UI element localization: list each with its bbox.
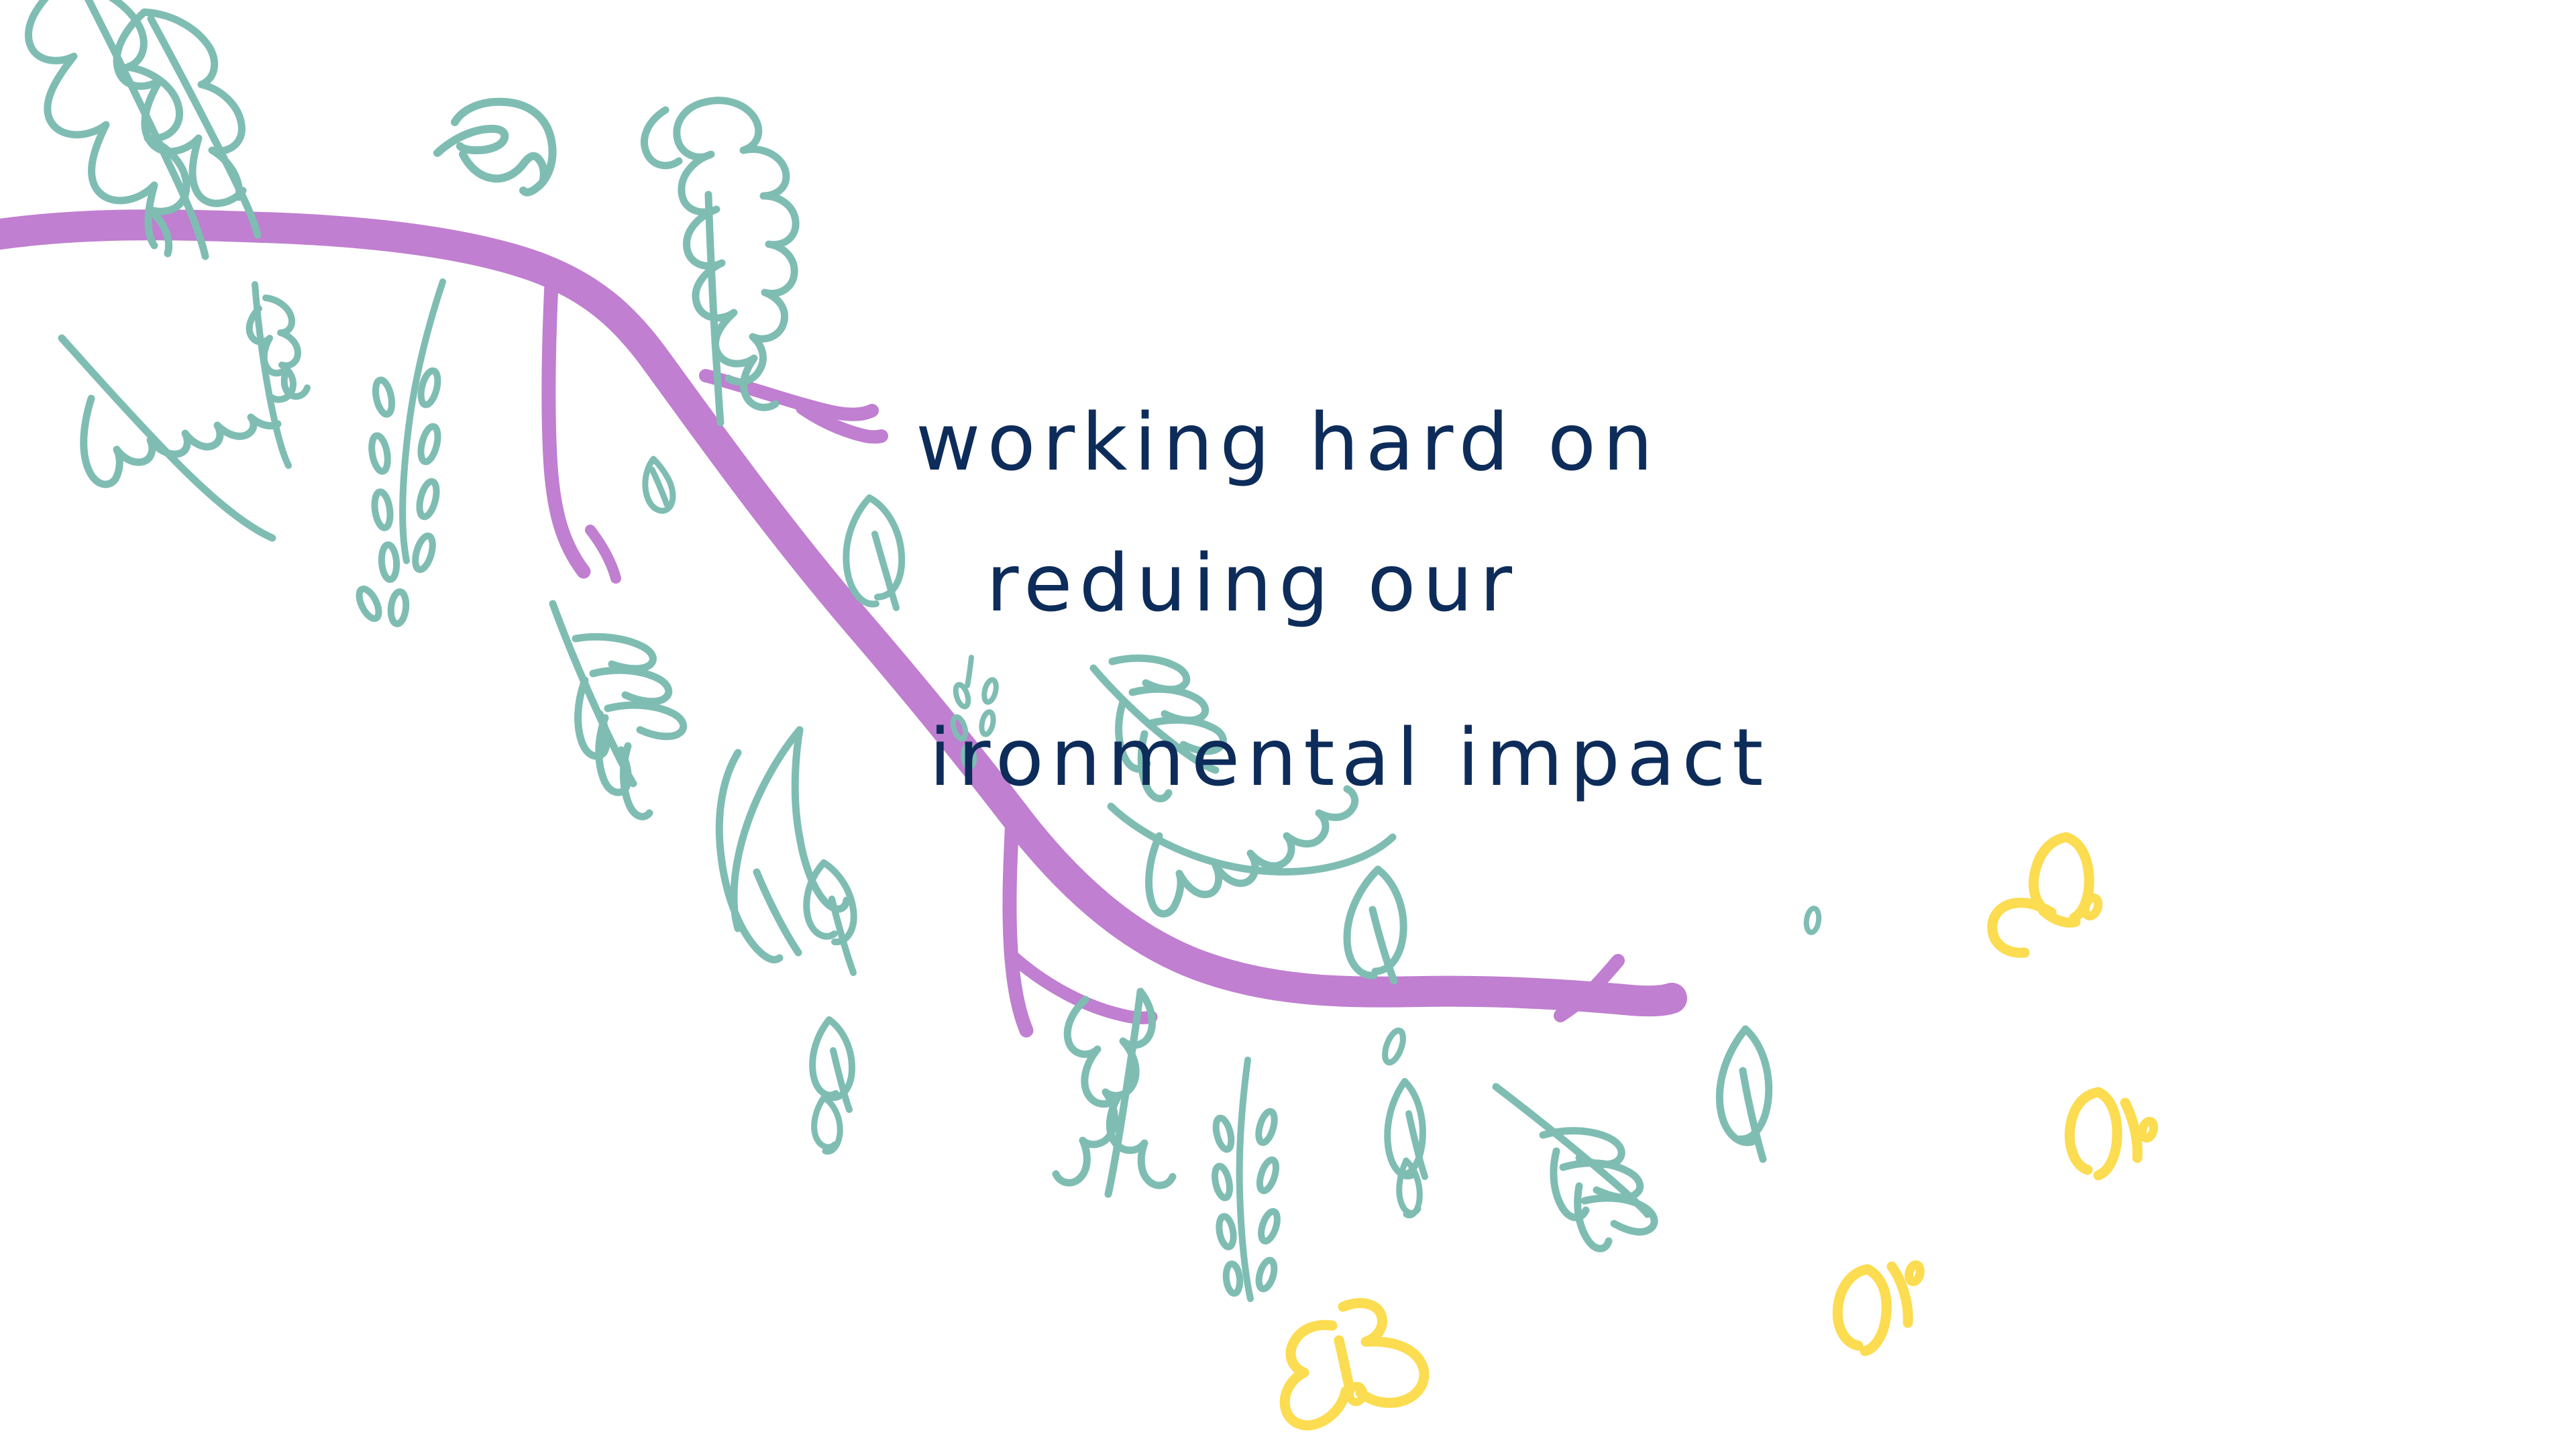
pinnate-leaf-bottom-right <box>1496 1087 1654 1248</box>
pointed-leaf-center-left <box>719 730 847 960</box>
tiny-seed-far-right <box>1805 908 1821 933</box>
butterfly-bottom-center <box>1285 1303 1424 1426</box>
butterfly-top-right <box>1992 837 2100 953</box>
branch-fork-upper-left <box>549 284 584 572</box>
small-leaf-bottom-left <box>812 1020 852 1110</box>
headline-line-2: reduing our <box>986 537 1519 629</box>
oak-leaf-top-center <box>677 101 796 423</box>
branch-fork-upper-left-tip <box>590 530 616 578</box>
curled-leaf-top <box>437 102 553 193</box>
butterfly-bottom-right <box>1837 1263 1922 1351</box>
serrated-leaf-mid-left <box>62 338 278 538</box>
small-pointed-leaf-elbow <box>645 459 673 511</box>
oak-leaf-bottom-center <box>1056 991 1173 1194</box>
pinnate-leaf-mid-left <box>553 604 684 816</box>
leaf-right-of-branch-end <box>1719 1029 1768 1159</box>
small-leaf-under-text <box>806 863 853 973</box>
headline-text-group: working hard on reduing our ironmental i… <box>916 396 1770 804</box>
slide-canvas: working hard on reduing our ironmental i… <box>0 0 2576 1449</box>
willow-stem-bottom <box>1212 1060 1280 1299</box>
headline-line-1: working hard on <box>916 396 1660 488</box>
butterfly-mid-right <box>2070 1092 2155 1175</box>
headline-line-3: ironmental impact <box>929 711 1770 804</box>
small-leaf-left-of-headline <box>846 498 902 608</box>
leaf-mid-right <box>1347 869 1403 981</box>
teal-leaf-group <box>28 0 1820 1299</box>
smile-leaf-behind-text <box>1111 789 1393 914</box>
tiny-seed-right-branch <box>1381 1028 1407 1065</box>
branch-fork-lower-left-tip <box>1014 958 1151 1018</box>
narrow-leaf-upper-left <box>250 284 307 466</box>
willow-stem-left <box>356 282 443 625</box>
tiny-leaf-bottom-far-left <box>814 1097 841 1152</box>
illustration-canvas: working hard on reduing our ironmental i… <box>0 0 2576 1449</box>
